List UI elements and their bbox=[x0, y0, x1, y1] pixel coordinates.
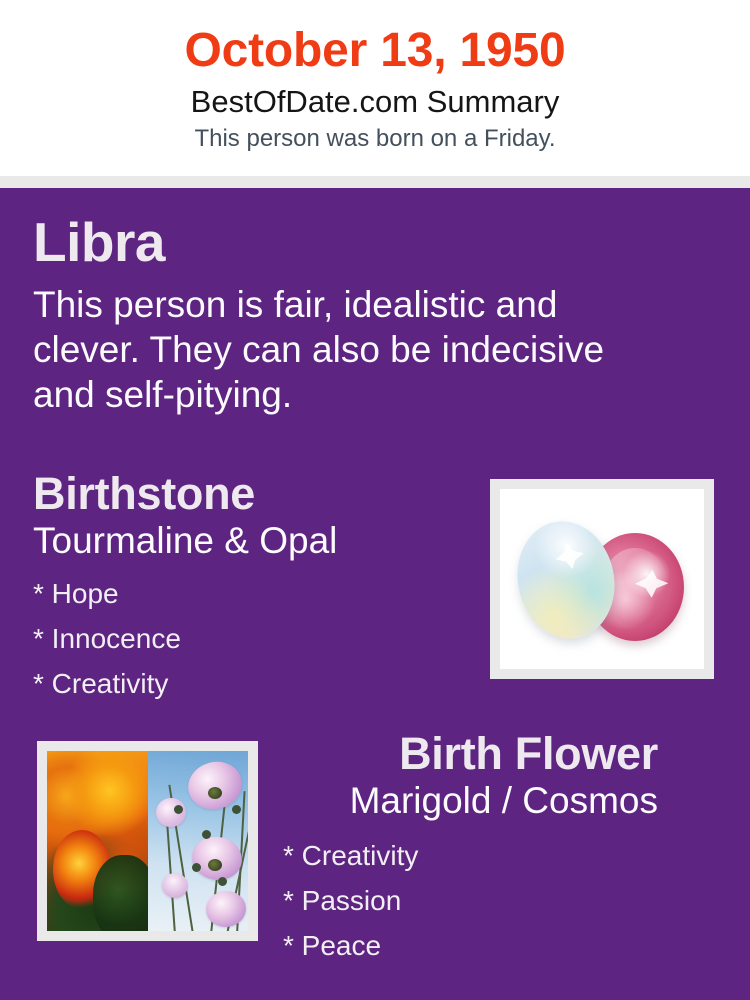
summary-panel: Libra This person is fair, idealistic an… bbox=[0, 188, 750, 1000]
birthstone-section: Birthstone Tourmaline & Opal * Hope * In… bbox=[33, 468, 463, 722]
bud-icon bbox=[202, 830, 211, 839]
flower-center-icon bbox=[208, 787, 222, 799]
list-item: * Creativity bbox=[33, 661, 463, 706]
page-header: October 13, 1950 BestOfDate.com Summary … bbox=[0, 0, 750, 176]
site-name: BestOfDate.com Summary bbox=[0, 82, 750, 122]
list-item: * Creativity bbox=[283, 833, 658, 878]
cosmos-photo-half bbox=[148, 751, 249, 931]
bud-icon bbox=[174, 805, 183, 814]
list-item: * Innocence bbox=[33, 616, 463, 661]
cosmos-petal-icon bbox=[154, 796, 188, 829]
zodiac-section: Libra This person is fair, idealistic an… bbox=[33, 210, 633, 417]
header-divider bbox=[0, 176, 750, 188]
day-of-week-note: This person was born on a Friday. bbox=[0, 123, 750, 155]
list-item: * Passion bbox=[283, 878, 658, 923]
bud-icon bbox=[232, 805, 241, 814]
birthstone-image-frame bbox=[490, 479, 714, 679]
birthstone-image bbox=[500, 489, 704, 669]
zodiac-description: This person is fair, idealistic and clev… bbox=[33, 282, 608, 417]
birthstone-trait-list: * Hope * Innocence * Creativity bbox=[33, 571, 463, 706]
birthflower-image bbox=[47, 751, 248, 931]
bud-icon bbox=[218, 877, 227, 886]
list-item: * Hope bbox=[33, 571, 463, 616]
bud-icon bbox=[192, 863, 201, 872]
birthflower-section: Birth Flower Marigold / Cosmos * Creativ… bbox=[280, 728, 658, 984]
birthflower-trait-list: * Creativity * Passion * Peace bbox=[280, 833, 658, 968]
birthflower-heading: Birth Flower bbox=[280, 728, 658, 780]
birthstone-value: Tourmaline & Opal bbox=[33, 519, 463, 563]
birthflower-value: Marigold / Cosmos bbox=[280, 779, 658, 823]
summary-page: October 13, 1950 BestOfDate.com Summary … bbox=[0, 0, 750, 1000]
birthstone-heading: Birthstone bbox=[33, 468, 463, 520]
birthflower-image-frame bbox=[37, 741, 258, 941]
zodiac-sign-name: Libra bbox=[33, 210, 633, 274]
flower-center-icon bbox=[208, 859, 222, 871]
page-title-date: October 13, 1950 bbox=[0, 22, 750, 80]
list-item: * Peace bbox=[283, 923, 658, 968]
marigold-photo-half bbox=[47, 751, 148, 931]
gemstone-illustration bbox=[500, 489, 704, 669]
